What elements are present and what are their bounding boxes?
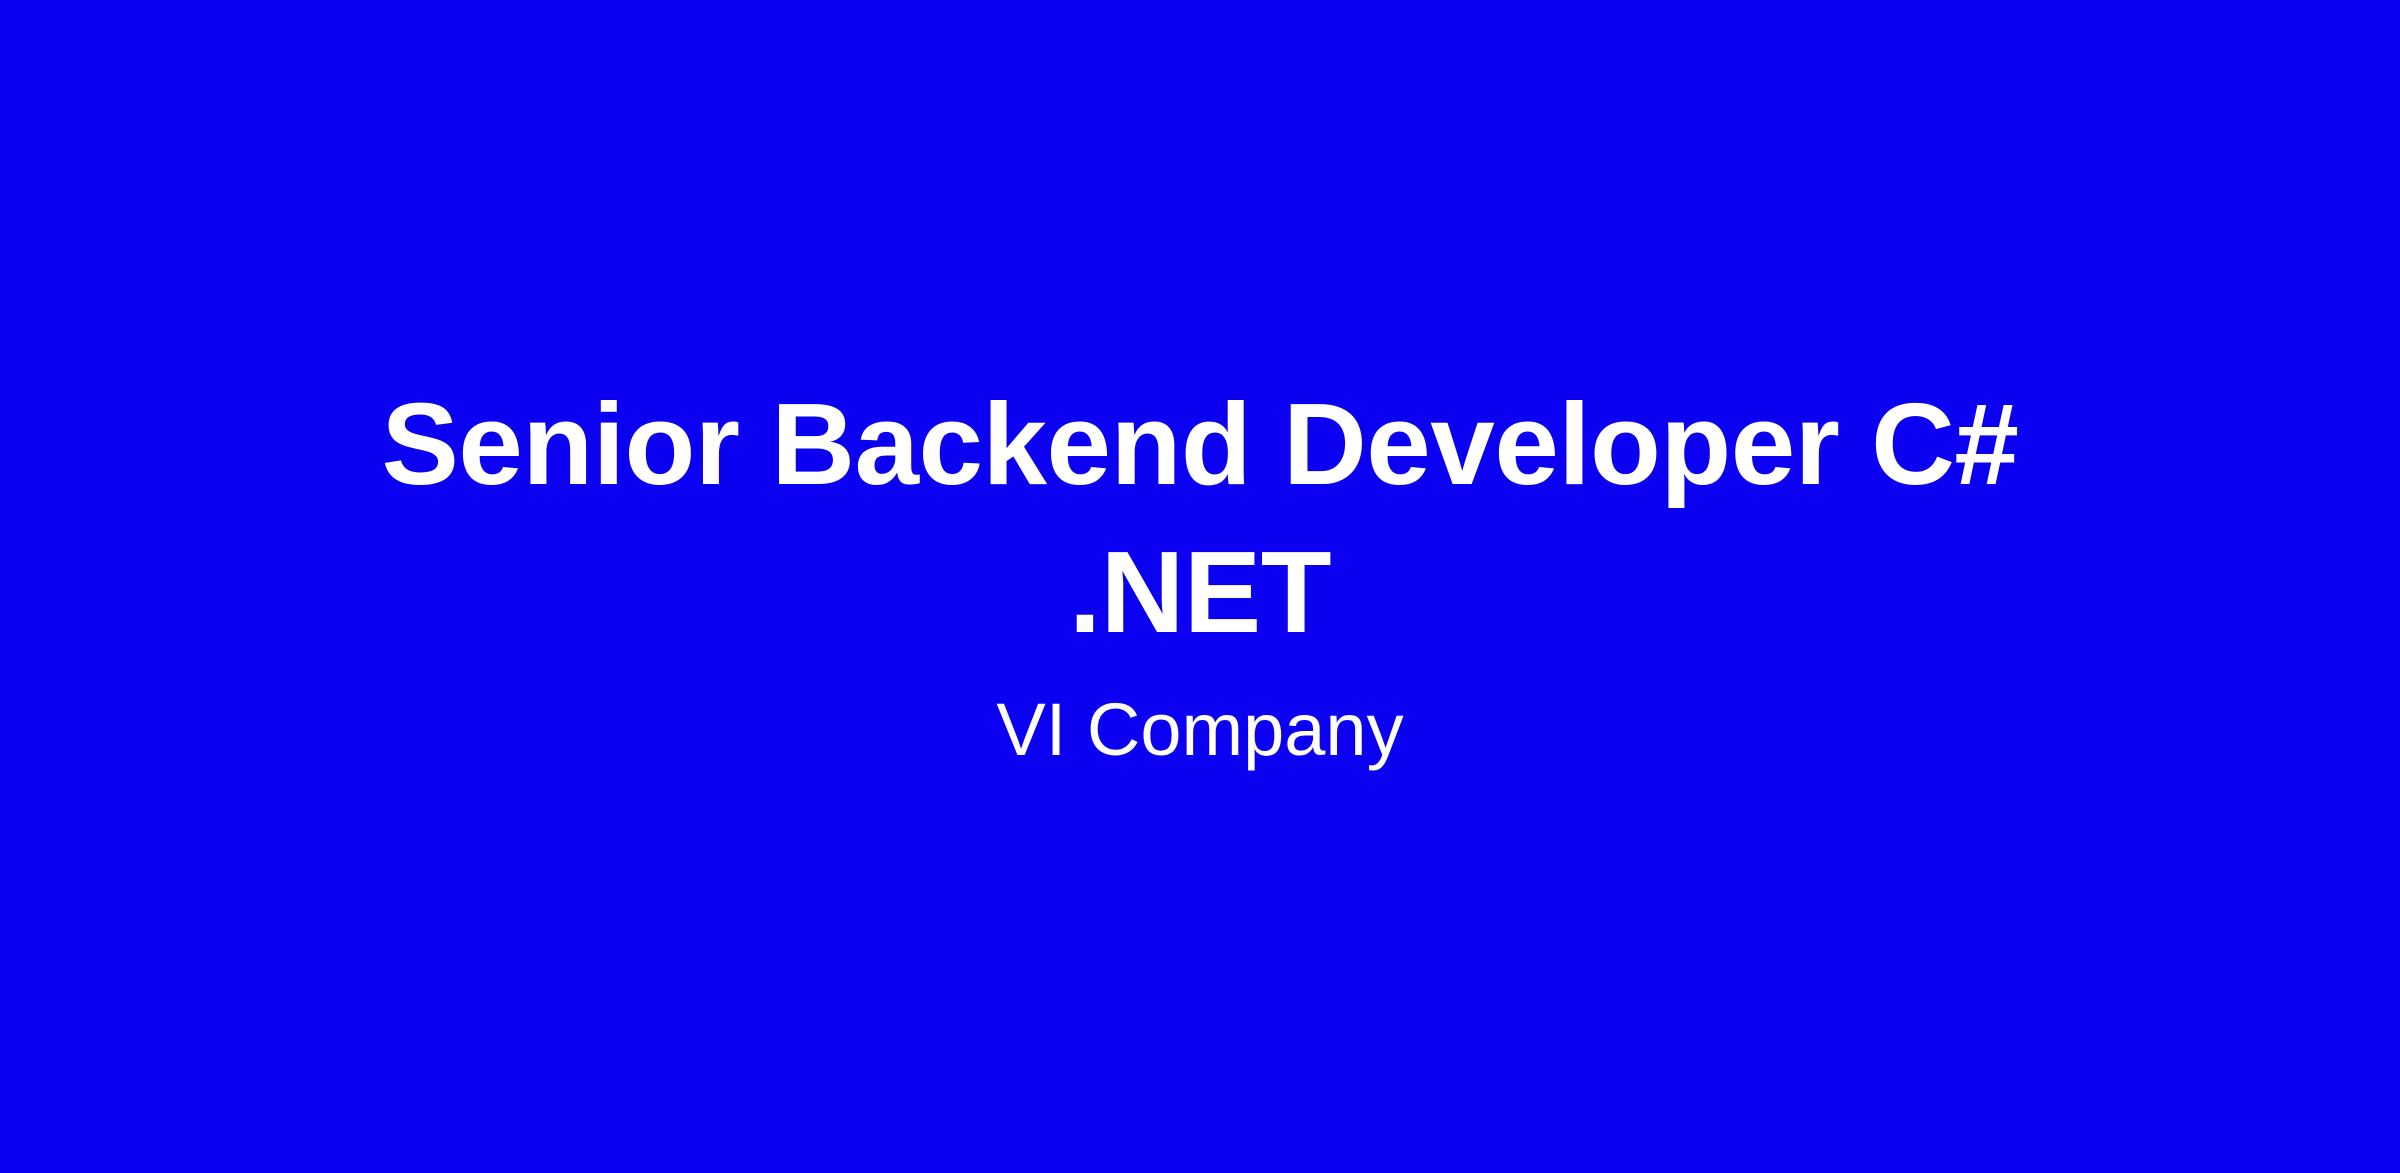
- job-title: Senior Backend Developer C# .NET: [380, 370, 2020, 666]
- hero-text-block: Senior Backend Developer C# .NET VI Comp…: [0, 370, 2400, 778]
- job-posting-banner: Senior Backend Developer C# .NET VI Comp…: [0, 0, 2400, 1173]
- company-name: VI Company: [996, 682, 1403, 778]
